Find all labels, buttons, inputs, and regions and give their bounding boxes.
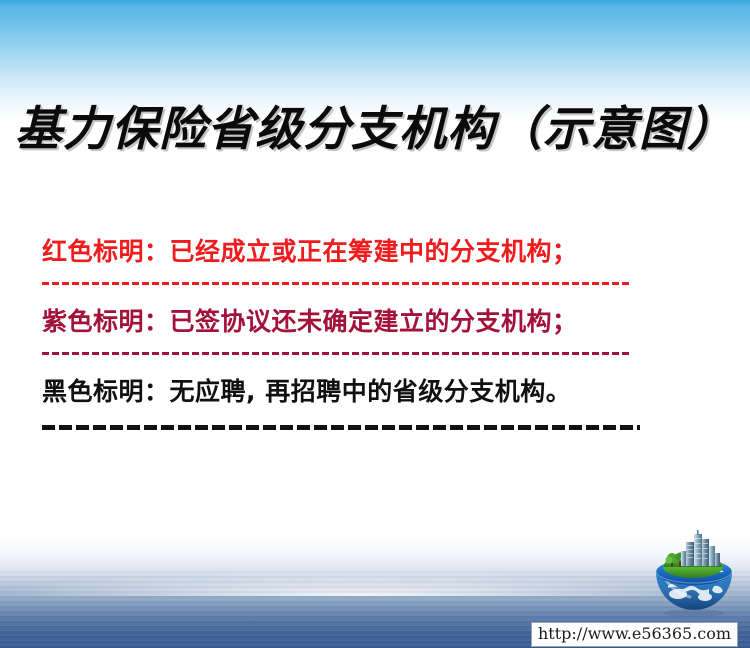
watermark-url[interactable]: http://www.e56365.com — [531, 622, 738, 647]
legend-row-black: 黑色标明：无应聘, 再招聘中的省级分支机构。 — [42, 372, 702, 432]
legend-divider-black — [42, 422, 640, 432]
legend-row-red: 红色标明：已经成立或正在筹建中的分支机构； — [42, 232, 702, 288]
legend-divider-purple — [42, 348, 630, 358]
legend-label-red: 红色标明：已经成立或正在筹建中的分支机构； — [42, 232, 702, 272]
legend-block: 红色标明：已经成立或正在筹建中的分支机构； 紫色标明：已签协议还未确定建立的分支… — [42, 232, 702, 446]
green-city-globe-logo — [648, 528, 740, 620]
sky-top-edge — [0, 0, 750, 5]
page-title: 基力保险省级分支机构（示意图） — [0, 99, 750, 161]
legend-row-purple: 紫色标明：已签协议还未确定建立的分支机构； — [42, 302, 702, 358]
legend-label-black: 黑色标明：无应聘, 再招聘中的省级分支机构。 — [42, 372, 702, 412]
legend-label-purple: 紫色标明：已签协议还未确定建立的分支机构； — [42, 302, 702, 342]
legend-divider-red — [42, 278, 630, 288]
slide-canvas: 基力保险省级分支机构（示意图） 红色标明：已经成立或正在筹建中的分支机构； 紫色… — [0, 0, 750, 648]
